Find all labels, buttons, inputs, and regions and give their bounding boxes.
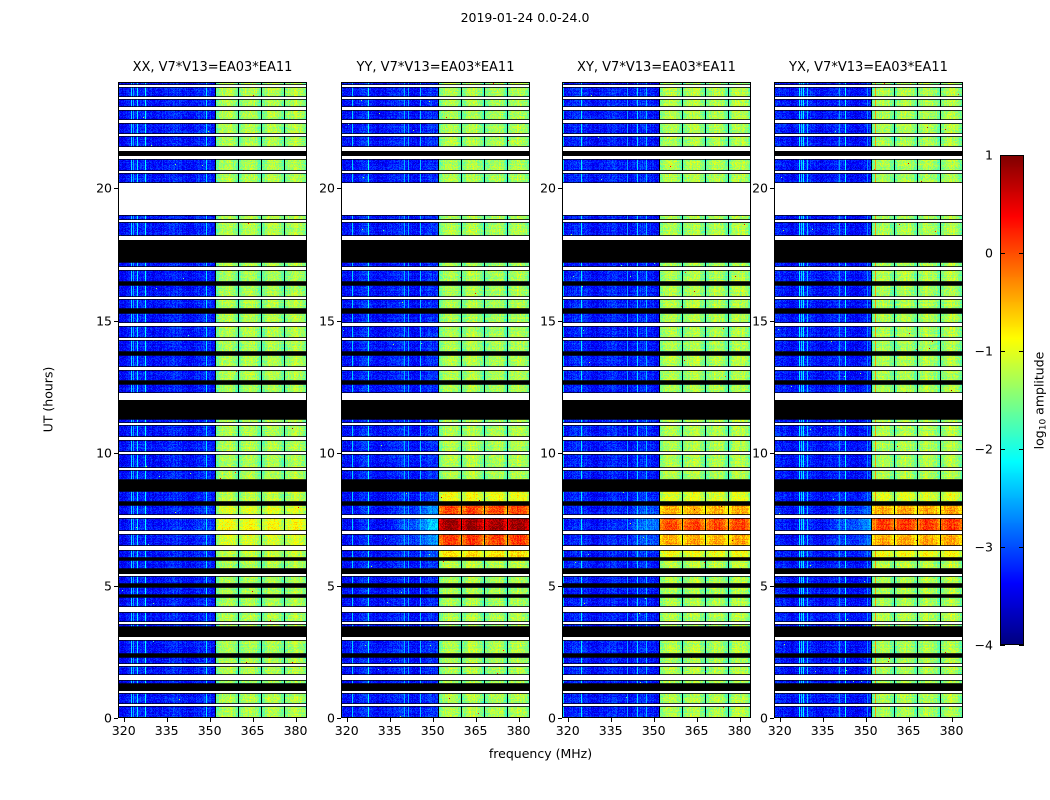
x-axis-label: frequency (MHz): [391, 746, 691, 761]
colorbar-tick-mark: [1000, 645, 1005, 646]
x-tick-mark: [476, 718, 477, 722]
colorbar-label-rest: amplitude: [1032, 352, 1047, 419]
y-tick-mark: [337, 321, 341, 322]
waterfall-image-xy: [562, 82, 751, 718]
x-tick-mark: [952, 718, 953, 722]
y-tick-label: 5: [548, 578, 556, 593]
subplot-title-yx: YX, V7*V13=EA03*EA11: [789, 60, 948, 75]
x-tick-mark: [210, 718, 211, 722]
colorbar-label: log10 amplitude: [1032, 330, 1049, 470]
colorbar-tick-mark: [1000, 449, 1005, 450]
colorbar: −4−3−2−101: [1000, 155, 1024, 645]
colorbar-tick-mark: [1000, 547, 1005, 548]
y-tick-label: 0: [327, 711, 335, 726]
y-tick-label: 0: [760, 711, 768, 726]
y-tick-label: 0: [104, 711, 112, 726]
waterfall-image-yx: [774, 82, 963, 718]
x-tick-label: 365: [241, 723, 265, 738]
x-tick-mark: [568, 718, 569, 722]
x-tick-labels: 320335350365380: [562, 718, 751, 740]
x-tick-label: 380: [940, 723, 964, 738]
figure-suptitle: 2019-01-24 0.0-24.0: [0, 10, 1050, 25]
colorbar-tick-label: −4: [975, 638, 1000, 653]
subplot-xy: XY, V7*V13=EA03*EA1132033535036538005101…: [562, 82, 751, 718]
y-tick-label: 10: [752, 446, 768, 461]
x-tick-mark: [823, 718, 824, 722]
y-tick-label: 5: [104, 578, 112, 593]
y-tick-label: 0: [548, 711, 556, 726]
x-tick-label: 320: [112, 723, 136, 738]
x-tick-label: 380: [728, 723, 752, 738]
x-tick-mark: [866, 718, 867, 722]
y-tick-labels: 05101520: [734, 82, 774, 718]
y-tick-label: 20: [96, 181, 112, 196]
x-tick-mark: [347, 718, 348, 722]
y-tick-mark: [558, 188, 562, 189]
subplot-title-yy: YY, V7*V13=EA03*EA11: [357, 60, 515, 75]
y-tick-labels: 05101520: [522, 82, 562, 718]
subplot-yx: YX, V7*V13=EA03*EA1132033535036538005101…: [774, 82, 963, 718]
y-tick-label: 10: [540, 446, 556, 461]
colorbar-tick-mark: [1019, 155, 1024, 156]
y-tick-mark: [114, 453, 118, 454]
y-tick-label: 5: [760, 578, 768, 593]
colorbar-tick-label: 0: [985, 246, 1000, 261]
waterfall-image-yy: [341, 82, 530, 718]
x-tick-mark: [519, 718, 520, 722]
x-tick-label: 335: [155, 723, 179, 738]
y-tick-mark: [558, 453, 562, 454]
x-tick-label: 365: [685, 723, 709, 738]
y-tick-mark: [114, 321, 118, 322]
x-tick-mark: [124, 718, 125, 722]
y-tick-mark: [337, 586, 341, 587]
subplot-title-xx: XX, V7*V13=EA03*EA11: [133, 60, 293, 75]
y-tick-label: 20: [540, 181, 556, 196]
colorbar-tick-mark: [1019, 253, 1024, 254]
x-tick-label: 365: [464, 723, 488, 738]
y-tick-label: 15: [319, 313, 335, 328]
subplot-yy: YY, V7*V13=EA03*EA1132033535036538005101…: [341, 82, 530, 718]
y-axis-label: UT (hours): [41, 340, 56, 460]
x-tick-mark: [740, 718, 741, 722]
subplot-xx: XX, V7*V13=EA03*EA1132033535036538005101…: [118, 82, 307, 718]
x-tick-mark: [909, 718, 910, 722]
waterfall-image-xx: [118, 82, 307, 718]
x-tick-label: 335: [599, 723, 623, 738]
x-tick-label: 320: [335, 723, 359, 738]
y-tick-mark: [337, 718, 341, 719]
colorbar-label-base: log: [1032, 430, 1047, 449]
x-tick-label: 335: [378, 723, 402, 738]
colorbar-tick-label: −3: [975, 540, 1000, 555]
colorbar-tick-label: −1: [975, 344, 1000, 359]
colorbar-tick-label: 1: [985, 148, 1000, 163]
x-tick-mark: [433, 718, 434, 722]
y-tick-label: 10: [96, 446, 112, 461]
y-tick-label: 20: [752, 181, 768, 196]
y-tick-mark: [770, 718, 774, 719]
y-tick-mark: [114, 586, 118, 587]
y-tick-mark: [337, 188, 341, 189]
x-tick-labels: 320335350365380: [341, 718, 530, 740]
x-tick-label: 320: [768, 723, 792, 738]
x-tick-label: 365: [897, 723, 921, 738]
x-tick-mark: [296, 718, 297, 722]
y-tick-mark: [337, 453, 341, 454]
x-tick-label: 380: [284, 723, 308, 738]
y-tick-mark: [558, 718, 562, 719]
y-tick-label: 20: [319, 181, 335, 196]
x-tick-labels: 320335350365380: [118, 718, 307, 740]
x-tick-label: 320: [556, 723, 580, 738]
y-tick-mark: [770, 586, 774, 587]
x-tick-mark: [611, 718, 612, 722]
x-tick-label: 350: [198, 723, 222, 738]
colorbar-gradient: [1000, 155, 1024, 645]
subplot-title-xy: XY, V7*V13=EA03*EA11: [577, 60, 736, 75]
x-tick-mark: [654, 718, 655, 722]
y-tick-label: 5: [327, 578, 335, 593]
y-tick-mark: [114, 718, 118, 719]
colorbar-tick-mark: [1000, 253, 1005, 254]
colorbar-tick-mark: [1000, 155, 1005, 156]
x-tick-mark: [390, 718, 391, 722]
x-tick-mark: [253, 718, 254, 722]
y-tick-label: 15: [540, 313, 556, 328]
y-tick-label: 10: [319, 446, 335, 461]
x-tick-labels: 320335350365380: [774, 718, 963, 740]
x-tick-label: 350: [421, 723, 445, 738]
colorbar-tick-mark: [1019, 449, 1024, 450]
x-tick-mark: [780, 718, 781, 722]
y-tick-mark: [558, 586, 562, 587]
colorbar-tick-label: −2: [975, 442, 1000, 457]
y-tick-labels: 05101520: [78, 82, 118, 718]
colorbar-tick-mark: [1019, 645, 1024, 646]
x-tick-mark: [167, 718, 168, 722]
y-tick-labels: 05101520: [301, 82, 341, 718]
x-tick-label: 335: [811, 723, 835, 738]
colorbar-tick-mark: [1019, 547, 1024, 548]
colorbar-tick-mark: [1019, 351, 1024, 352]
y-tick-mark: [770, 453, 774, 454]
y-tick-label: 15: [96, 313, 112, 328]
y-tick-mark: [558, 321, 562, 322]
figure-canvas: 2019-01-24 0.0-24.0 XX, V7*V13=EA03*EA11…: [0, 0, 1050, 800]
x-tick-label: 350: [642, 723, 666, 738]
x-tick-mark: [697, 718, 698, 722]
y-tick-mark: [770, 188, 774, 189]
y-tick-mark: [770, 321, 774, 322]
y-tick-mark: [114, 188, 118, 189]
y-tick-label: 15: [752, 313, 768, 328]
x-tick-label: 350: [854, 723, 878, 738]
colorbar-label-subscript: 10: [1038, 419, 1048, 430]
colorbar-tick-mark: [1000, 351, 1005, 352]
x-tick-label: 380: [507, 723, 531, 738]
